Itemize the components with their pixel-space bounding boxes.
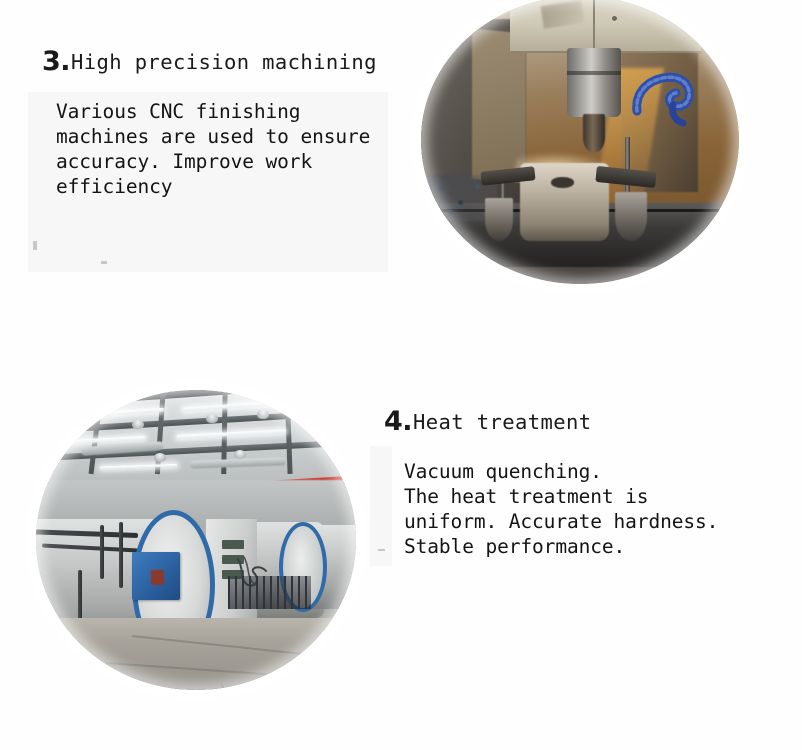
cnc-spindle — [567, 48, 621, 117]
cabinet-display-1 — [222, 540, 244, 549]
page-canvas: 3.High precision machining Various CNC f… — [0, 0, 802, 750]
scan-artifact-mark-b — [101, 261, 107, 264]
cnc-coolant-hose — [631, 51, 707, 129]
step-3-body: Various CNC finishing machines are used … — [56, 99, 377, 199]
cnc-clamp-foot-right — [615, 192, 647, 241]
cnc-head-bolt-b — [672, 18, 677, 23]
step-3-heading: 3.High precision machining — [42, 46, 377, 77]
step-3-text-block: 3.High precision machining Various CNC f… — [42, 46, 377, 199]
furnace-photo-content — [36, 390, 356, 690]
step-3-photo-cnc-machining: CNC vertical milling machine with spindl… — [421, 0, 739, 284]
step-4-number: 4. — [384, 406, 412, 437]
cnc-head-bolt-a — [612, 16, 617, 21]
step-3-number: 3. — [42, 46, 70, 77]
step-4-photo-vacuum-furnace: Row of industrial vacuum heat treatment … — [36, 390, 356, 690]
furnace-floor-railing — [228, 576, 311, 609]
cnc-head-seam — [593, 0, 595, 51]
pendant-lamp-3 — [257, 410, 269, 419]
pendant-lamp-2 — [206, 414, 218, 423]
cnc-workpiece-bore — [551, 177, 573, 187]
cnc-spindle-ring — [567, 71, 621, 75]
cnc-clamp-foot-left — [485, 198, 514, 241]
pendant-lamp-5 — [154, 453, 166, 462]
pendant-lamp-1 — [132, 420, 144, 429]
step-4-body: Vacuum quenching. The heat treatment is … — [404, 459, 718, 559]
cnc-spindle-head-housing — [510, 0, 701, 53]
step-3-title: High precision machining — [71, 50, 377, 74]
step-4-title: Heat treatment — [413, 410, 591, 434]
step-4-heading: 4.Heat treatment — [384, 406, 718, 437]
furnace-pipe-4 — [119, 522, 123, 588]
furnace-door-control-box-label — [151, 570, 164, 585]
step-4-text-block: 4.Heat treatment Vacuum quenching. The h… — [384, 406, 718, 559]
cnc-photo-content — [421, 0, 739, 284]
scan-artifact-mark-a — [33, 241, 37, 250]
furnace-pipe-3 — [100, 525, 104, 579]
pendant-lamp-4 — [234, 450, 246, 459]
cnc-cutting-tool — [583, 114, 605, 151]
